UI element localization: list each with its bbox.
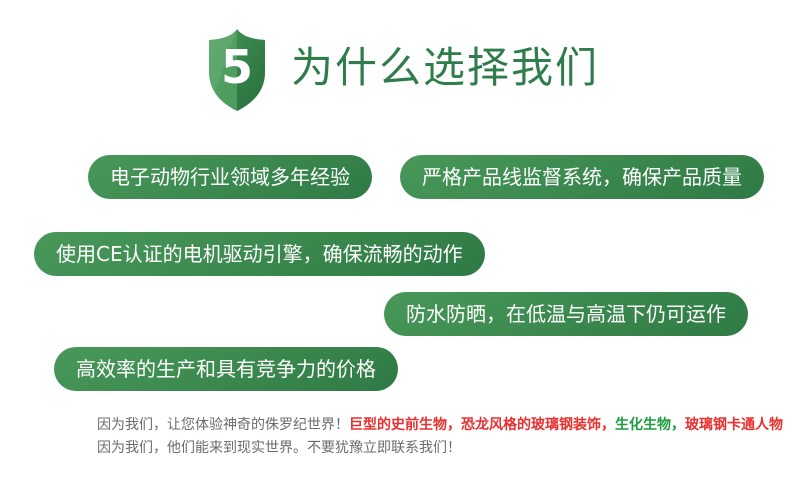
footer-text: 因为我们，让您体验神奇的侏罗纪世界！巨型的史前生物，恐龙风格的玻璃钢装饰，生化生… — [97, 414, 757, 460]
feature-pill-5-label: 高效率的生产和具有竞争力的价格 — [76, 359, 376, 379]
footer-line1-highlight-green: 生化生物， — [615, 417, 685, 433]
footer-line-1: 因为我们，让您体验神奇的侏罗纪世界！巨型的史前生物，恐龙风格的玻璃钢装饰，生化生… — [97, 414, 757, 437]
footer-line1-highlight-red-2: 玻璃钢卡通人物 — [685, 417, 783, 433]
feature-pill-4-label: 防水防晒，在低温与高温下仍可运作 — [406, 304, 726, 324]
feature-pill-3[interactable]: 使用CE认证的电机驱动引擎，确保流畅的动作 — [34, 232, 485, 276]
feature-pill-2-label: 严格产品线监督系统，确保产品质量 — [422, 167, 742, 187]
page-header: 5 为什么选择我们 — [0, 24, 800, 116]
footer-line-2: 因为我们，他们能来到现实世界。不要犹豫立即联系我们！ — [97, 437, 757, 460]
page-title: 为什么选择我们 — [291, 47, 599, 93]
shield-badge: 5 — [201, 27, 273, 113]
feature-pill-3-label: 使用CE认证的电机驱动引擎，确保流畅的动作 — [56, 244, 463, 264]
feature-pill-4[interactable]: 防水防晒，在低温与高温下仍可运作 — [384, 292, 748, 336]
feature-pill-2[interactable]: 严格产品线监督系统，确保产品质量 — [400, 155, 764, 199]
feature-pill-1-label: 电子动物行业领域多年经验 — [110, 167, 350, 187]
feature-pill-5[interactable]: 高效率的生产和具有竞争力的价格 — [54, 347, 398, 391]
footer-line1-plain: 因为我们，让您体验神奇的侏罗纪世界！ — [97, 417, 349, 433]
footer-line1-highlight-red-1: 巨型的史前生物，恐龙风格的玻璃钢装饰， — [349, 417, 615, 433]
badge-number: 5 — [201, 27, 273, 113]
feature-pill-1[interactable]: 电子动物行业领域多年经验 — [88, 155, 372, 199]
